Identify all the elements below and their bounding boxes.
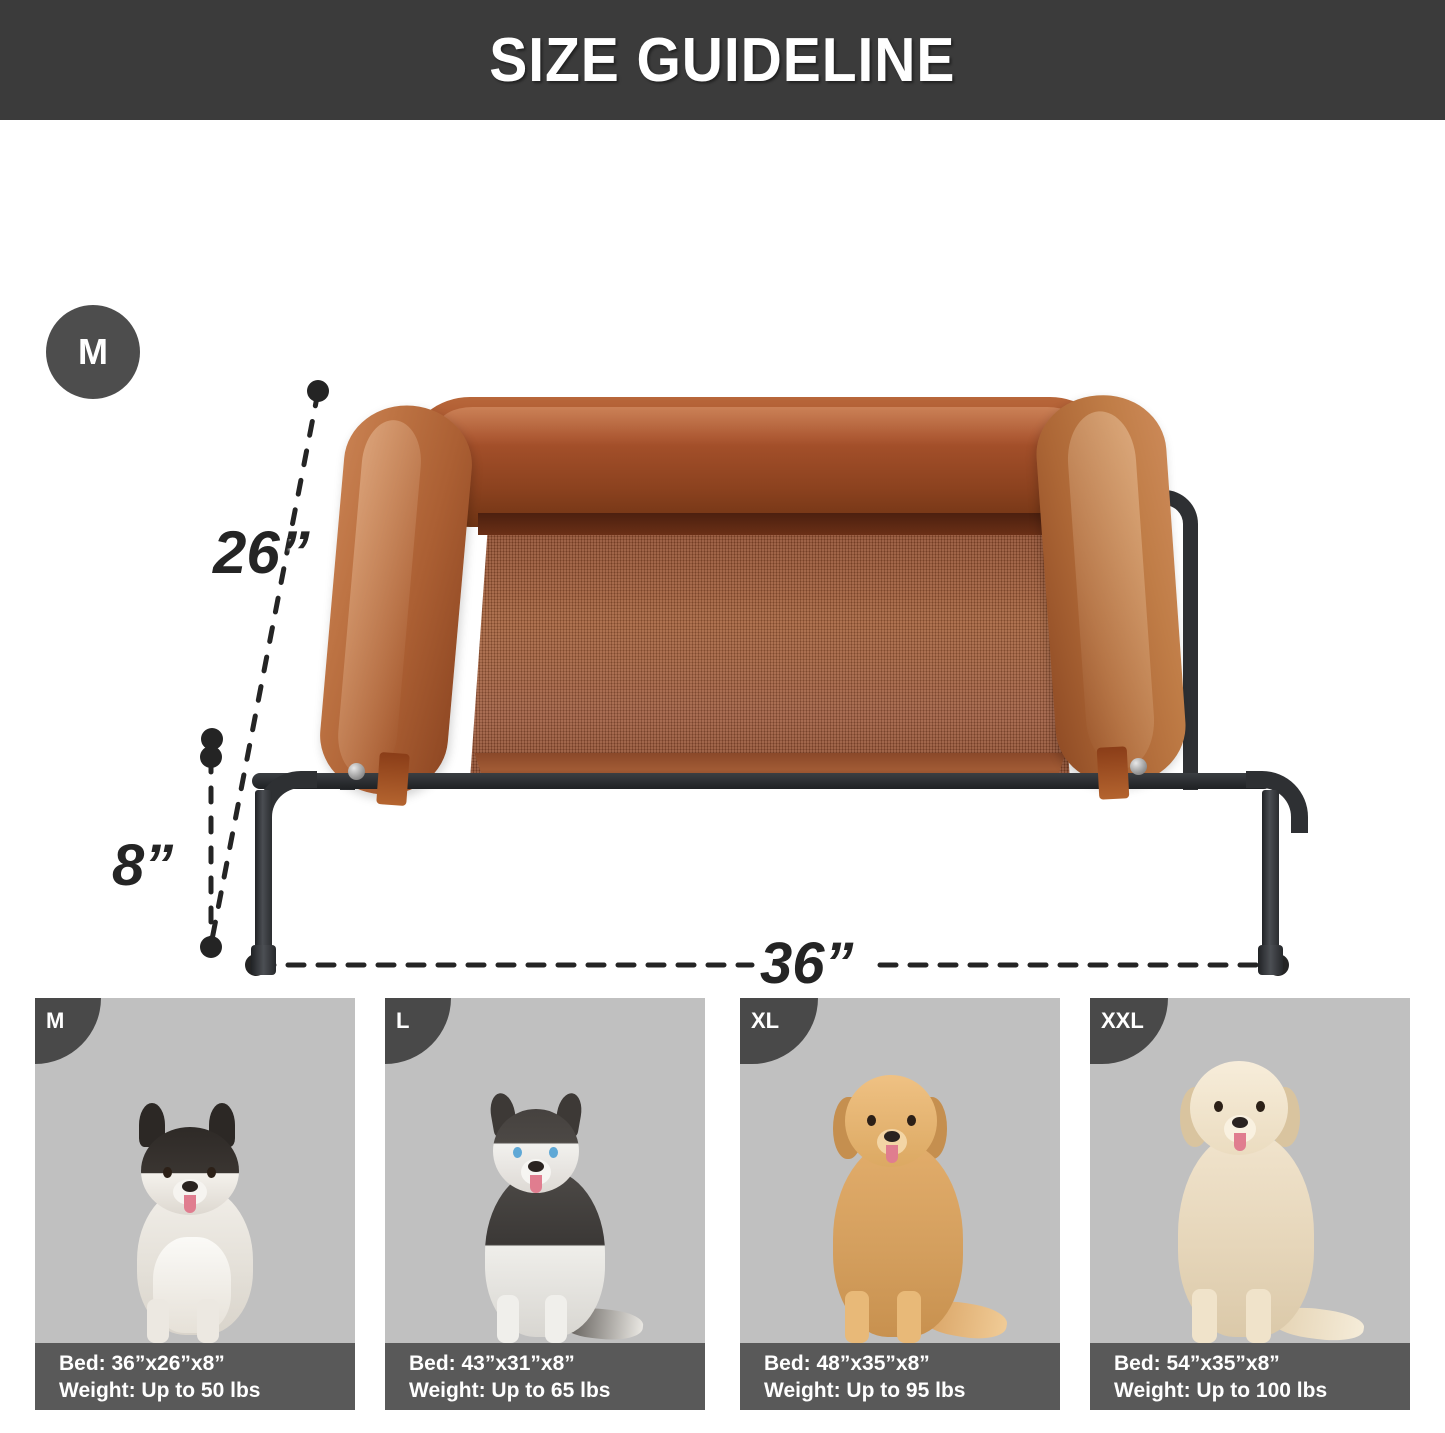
card-badge-m: M bbox=[35, 998, 101, 1064]
dog-bed-illustration bbox=[240, 375, 1300, 975]
card-caption-xl: Bed: 48”x35”x8” Weight: Up to 95 lbs bbox=[740, 1343, 1060, 1410]
dog-eye bbox=[1214, 1101, 1223, 1112]
dog-nose bbox=[182, 1181, 198, 1192]
dog-illustration-french-bulldog bbox=[93, 1113, 297, 1343]
frame-foot-right bbox=[1258, 945, 1283, 975]
dog-illustration-labrador bbox=[1134, 1043, 1366, 1343]
size-guideline-page: SIZE GUIDELINE M bbox=[0, 0, 1445, 1433]
size-card-l: L Bed: bbox=[385, 998, 705, 1410]
size-card-row: M Bed: bbox=[0, 975, 1445, 1433]
leather-strap bbox=[376, 752, 410, 806]
dog-eye bbox=[867, 1115, 876, 1126]
dog-leg bbox=[147, 1299, 169, 1343]
dog-leg bbox=[497, 1295, 519, 1343]
dimension-label-leg-height: 8” bbox=[112, 832, 173, 899]
card-bed-size: Bed: 54”x35”x8” bbox=[1114, 1350, 1410, 1377]
dog-leg bbox=[897, 1291, 921, 1343]
hero-diagram: M bbox=[0, 120, 1445, 975]
dog-eye bbox=[163, 1167, 172, 1178]
screw-icon bbox=[348, 763, 365, 780]
frame-leg-right bbox=[1262, 790, 1279, 968]
dog-head bbox=[845, 1075, 937, 1167]
mesh-sleeping-surface bbox=[470, 525, 1070, 780]
card-bed-size: Bed: 36”x26”x8” bbox=[59, 1350, 355, 1377]
size-card-xl: XL Bed: bbox=[740, 998, 1060, 1410]
leather-strap bbox=[1097, 746, 1130, 799]
dog-head bbox=[141, 1127, 239, 1215]
dog-tongue bbox=[1234, 1133, 1246, 1151]
card-caption-m: Bed: 36”x26”x8” Weight: Up to 50 lbs bbox=[35, 1343, 355, 1410]
dog-photo-xl: XL bbox=[740, 998, 1060, 1343]
card-badge-l: L bbox=[385, 998, 451, 1064]
dim-dot bbox=[200, 746, 222, 768]
dog-photo-m: M bbox=[35, 998, 355, 1343]
dog-leg bbox=[197, 1299, 219, 1343]
bolster-left bbox=[315, 400, 477, 800]
size-card-m: M Bed: bbox=[35, 998, 355, 1410]
card-weight: Weight: Up to 95 lbs bbox=[764, 1377, 1060, 1404]
dog-leg bbox=[545, 1295, 567, 1343]
card-bed-size: Bed: 43”x31”x8” bbox=[409, 1350, 705, 1377]
bolster-back bbox=[410, 397, 1110, 527]
frame-foot-left bbox=[251, 945, 276, 975]
dog-leg bbox=[1192, 1289, 1217, 1343]
frame-leg-left bbox=[255, 790, 272, 968]
size-card-xxl: XXL Bed bbox=[1090, 998, 1410, 1410]
card-caption-l: Bed: 43”x31”x8” Weight: Up to 65 lbs bbox=[385, 1343, 705, 1410]
card-bed-size: Bed: 48”x35”x8” bbox=[764, 1350, 1060, 1377]
dimension-label-height: 26” bbox=[213, 518, 310, 587]
dog-tongue bbox=[530, 1175, 542, 1193]
dim-dot bbox=[200, 936, 222, 958]
dog-photo-l: L bbox=[385, 998, 705, 1343]
dog-eye bbox=[1256, 1101, 1265, 1112]
bolster-right bbox=[1033, 391, 1190, 789]
dog-leg bbox=[1246, 1289, 1271, 1343]
card-weight: Weight: Up to 100 lbs bbox=[1114, 1377, 1410, 1404]
card-caption-xxl: Bed: 54”x35”x8” Weight: Up to 100 lbs bbox=[1090, 1343, 1410, 1410]
dog-illustration-golden-retriever bbox=[787, 1051, 1013, 1343]
card-weight: Weight: Up to 65 lbs bbox=[409, 1377, 705, 1404]
dog-head bbox=[493, 1109, 579, 1193]
dog-tongue bbox=[886, 1145, 898, 1163]
dog-nose bbox=[528, 1161, 544, 1172]
dog-nose bbox=[1232, 1117, 1248, 1128]
dog-eye bbox=[907, 1115, 916, 1126]
dog-head bbox=[1190, 1061, 1288, 1155]
dim-dot bbox=[201, 728, 223, 750]
dog-photo-xxl: XXL bbox=[1090, 998, 1410, 1343]
dog-eye bbox=[549, 1147, 558, 1158]
dog-nose bbox=[884, 1131, 900, 1142]
hero-size-badge: M bbox=[46, 305, 140, 399]
card-weight: Weight: Up to 50 lbs bbox=[59, 1377, 355, 1404]
dog-illustration-husky bbox=[439, 1081, 651, 1343]
mesh-seam bbox=[478, 513, 1062, 535]
dog-leg bbox=[845, 1291, 869, 1343]
screw-icon bbox=[1130, 758, 1147, 775]
dog-tongue bbox=[184, 1195, 196, 1213]
page-title: SIZE GUIDELINE bbox=[489, 25, 955, 96]
dog-eye bbox=[513, 1147, 522, 1158]
dog-eye bbox=[207, 1167, 216, 1178]
page-header: SIZE GUIDELINE bbox=[0, 0, 1445, 120]
